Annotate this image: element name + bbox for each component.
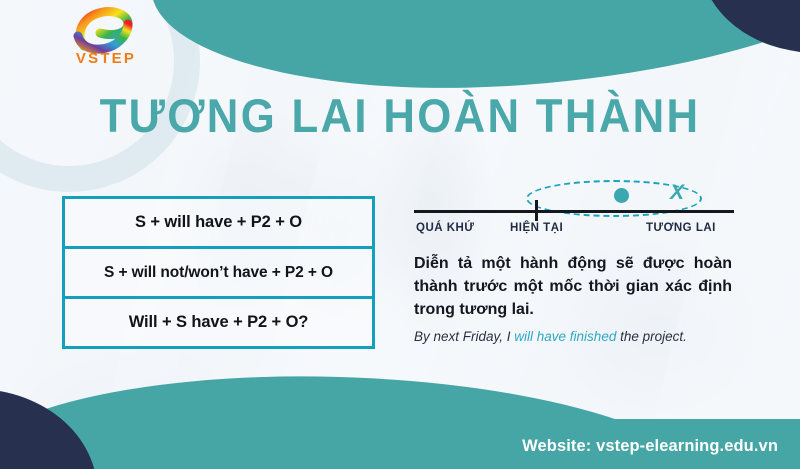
formula-label: S + will have + P2 + O <box>135 213 302 232</box>
page-title: TƯƠNG LAI HOÀN THÀNH <box>28 88 772 143</box>
logo-wordmark: VSTEP <box>58 50 154 67</box>
vstep-logo: VSTEP <box>58 6 154 74</box>
formula-list: S + will have + P2 + O S + will not/won’… <box>62 196 375 349</box>
timeline-label-future: TƯƠNG LAI <box>646 222 716 234</box>
footer-website: Website: vstep-elearning.edu.vn <box>522 437 778 456</box>
timeline-label-present: HIỆN TẠI <box>510 222 563 234</box>
timeline-x-marker-icon: X <box>670 181 684 205</box>
formula-negative: S + will not/won’t have + P2 + O <box>62 246 375 299</box>
poster-canvas: VSTEP TƯƠNG LAI HOÀN THÀNH S + will have… <box>0 0 800 469</box>
formula-label: S + will not/won’t have + P2 + O <box>104 264 333 282</box>
usage-description: Diễn tả một hành động sẽ được hoàn thành… <box>414 252 732 321</box>
timeline-diagram: X QUÁ KHỨ HIỆN TẠI TƯƠNG LAI <box>414 178 734 234</box>
formula-interrogative: Will + S have + P2 + O? <box>62 296 375 349</box>
timeline-axis <box>414 210 734 213</box>
vstep-rainbow-e-logo-icon <box>70 6 140 54</box>
example-sentence: By next Friday, I will have finished the… <box>414 329 744 344</box>
formula-label: Will + S have + P2 + O? <box>129 313 309 332</box>
timeline-present-tick-icon <box>535 200 538 221</box>
timeline-dot-marker-icon <box>614 188 629 203</box>
example-after: the project. <box>616 329 687 344</box>
example-before: By next Friday, I <box>414 329 514 344</box>
example-highlight: will have finished <box>514 329 616 344</box>
timeline-labels: QUÁ KHỨ HIỆN TẠI TƯƠNG LAI <box>414 222 734 238</box>
timeline-label-past: QUÁ KHỨ <box>416 222 474 234</box>
formula-affirmative: S + will have + P2 + O <box>62 196 375 249</box>
